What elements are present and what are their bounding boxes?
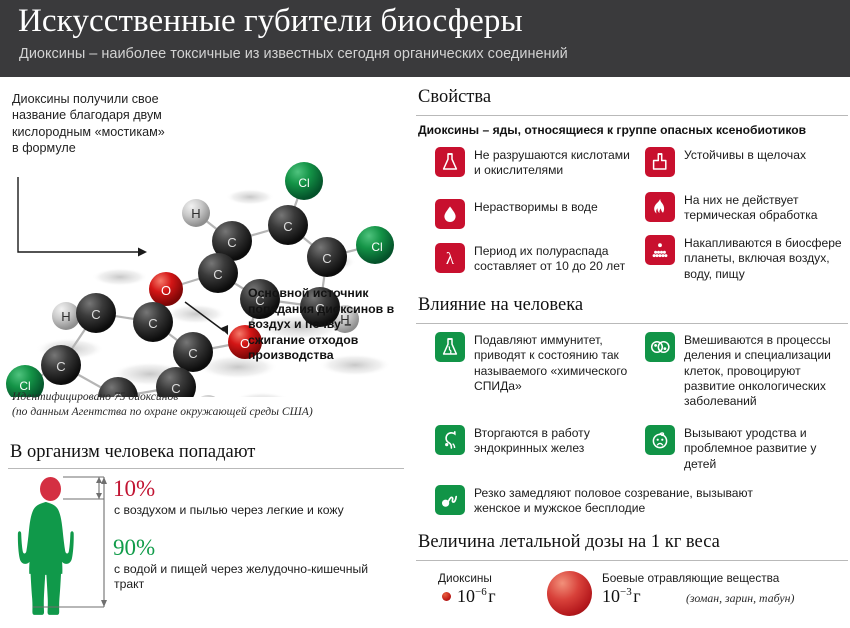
svg-text:H: H — [61, 309, 70, 324]
lethal-dose-heading: Величина летальной дозы на 1 кг веса — [418, 532, 720, 553]
impact-item-endocrine: Вторгаются в работу эндокринных желез — [435, 425, 635, 457]
property-text: Период их полураспада составляет от 10 д… — [474, 243, 640, 275]
svg-text:Cl: Cl — [298, 176, 309, 190]
svg-text:C: C — [227, 235, 236, 250]
body-section-heading: В организм человека попадают — [10, 442, 255, 463]
properties-divider — [416, 115, 848, 116]
intake-pct-90-desc: с водой и пищей через желудочно-кишечный… — [114, 562, 374, 592]
page-header: Искусственные губители биосферы Диоксины… — [0, 0, 850, 77]
atom-H: H — [182, 199, 210, 227]
atom-Cl: Cl — [285, 162, 323, 200]
cell-division-icon — [645, 332, 675, 362]
intake-pct-90: 90% — [113, 535, 155, 561]
svg-text:λ: λ — [446, 249, 455, 268]
measurement-arrowheads — [96, 477, 107, 607]
molecule-callout-oxygen-bridges: Диоксины получили свое название благодар… — [12, 91, 172, 157]
dioxin-dose-label: Диоксины — [438, 571, 492, 585]
thyroid-head-icon — [435, 425, 465, 455]
atom-C: C — [76, 293, 116, 333]
atom-Cl: Cl — [356, 226, 394, 264]
properties-heading: Свойства — [418, 87, 491, 108]
human-body-intake-figure: 10% с воздухом и пылью через легкие и ко… — [0, 473, 410, 623]
sad-baby-face-icon — [645, 425, 675, 455]
left-column: H Cl Cl H C C C C C C O O H C C Cl C H C… — [0, 77, 410, 624]
property-text: Накапливаются в биосфере планеты, включа… — [684, 235, 850, 282]
body-svg — [0, 473, 410, 623]
property-item-biosphere: Накапливаются в биосфере планеты, включа… — [645, 235, 850, 282]
atom-H: H — [52, 302, 80, 330]
atom-C: C — [41, 345, 81, 385]
warfare-agent-dose-value: 10−3 г — [602, 586, 641, 607]
page-subtitle: Диоксины – наиболее токсичные из известн… — [19, 46, 568, 62]
property-text: Устойчивы в щелочах — [684, 147, 806, 163]
property-item-water: Нерастворимы в воде — [435, 199, 635, 229]
impact-text: Подавляют иммунитет, приводят к состояни… — [474, 332, 635, 394]
lethal-dose-legend: Диоксины 10−6 г Боевые отравляющие вещес… — [414, 567, 850, 627]
impact-text: Вызывают уродства и проблемное развитие … — [684, 425, 845, 472]
lethal-dose-divider — [416, 560, 848, 561]
warfare-dose-base: 10 — [602, 586, 620, 606]
properties-lead-text: Диоксины – яды, относящиеся к группе опа… — [418, 123, 848, 137]
dioxin-dose-marker — [442, 592, 451, 601]
impact-item-fertility: Резко замедляют половое созревание, вызы… — [435, 485, 755, 517]
atom-C: C — [173, 332, 213, 372]
property-item-alkali: Устойчивы в щелочах — [645, 147, 845, 177]
body-section-divider — [8, 468, 404, 469]
impact-text: Вмешиваются в процессы деления и специал… — [684, 332, 850, 409]
dioxin-dose-base: 10 — [457, 586, 475, 606]
intake-pct-10-desc: с воздухом и пылью через легкие и кожу — [114, 503, 394, 518]
svg-text:C: C — [148, 316, 157, 331]
property-text: Нерастворимы в воде — [474, 199, 598, 215]
impact-item-cell-division: Вмешиваются в процессы деления и специал… — [645, 332, 850, 409]
impact-item-children: Вызывают уродства и проблемное развитие … — [645, 425, 845, 472]
atom-C: C — [307, 237, 347, 277]
svg-text:C: C — [322, 251, 331, 266]
property-item-halflife: λ Период их полураспада составляет от 10… — [435, 243, 640, 275]
flame-icon — [645, 192, 675, 222]
warfare-dose-unit: г — [633, 586, 640, 606]
sperm-icon — [435, 485, 465, 515]
impact-divider — [416, 323, 848, 324]
page-title: Искусственные губители биосферы — [18, 3, 523, 40]
identified-dioxins-note: Идентифицировано 75 диоксинов (по данным… — [12, 390, 342, 419]
impact-text: Резко замедляют половое созревание, вызы… — [474, 485, 755, 517]
atom-O: O — [149, 272, 183, 306]
beaker-icon — [645, 147, 675, 177]
impact-text: Вторгаются в работу эндокринных желез — [474, 425, 635, 457]
atom-C: C — [133, 302, 173, 342]
svg-text:C: C — [213, 267, 222, 282]
impact-item-immunity: Подавляют иммунитет, приводят к состояни… — [435, 332, 635, 394]
molecule-callout-main-source: Основной источник попадания диоксинов в … — [248, 286, 398, 364]
flask-dna-icon — [435, 332, 465, 362]
dioxin-dose-value: 10−6 г — [457, 586, 496, 607]
lambda-icon: λ — [435, 243, 465, 273]
warfare-agent-dose-label: Боевые отравляющие вещества — [602, 571, 779, 585]
property-text: На них не действует термическая обработк… — [684, 192, 845, 224]
svg-text:O: O — [161, 283, 171, 298]
svg-text:C: C — [188, 346, 197, 361]
water-drop-icon — [435, 199, 465, 229]
property-item-heat: На них не действует термическая обработк… — [645, 192, 845, 224]
svg-text:C: C — [56, 359, 65, 374]
human-silhouette — [18, 477, 74, 615]
svg-text:Cl: Cl — [371, 240, 382, 254]
intake-pct-10: 10% — [113, 476, 155, 502]
property-item-acids: Не разрушаются кислотами и окислителями — [435, 147, 635, 179]
flask-icon — [435, 147, 465, 177]
property-text: Не разрушаются кислотами и окислителями — [474, 147, 635, 179]
impact-heading: Влияние на человека — [418, 295, 583, 316]
right-column: Свойства Диоксины – яды, относящиеся к г… — [414, 77, 850, 624]
svg-text:H: H — [191, 206, 200, 221]
dioxin-dose-exp: −6 — [475, 586, 487, 598]
dioxin-dose-unit: г — [488, 586, 495, 606]
svg-text:C: C — [283, 219, 292, 234]
svg-text:C: C — [91, 307, 100, 322]
dot-pyramid-icon — [645, 235, 675, 265]
atom-C: C — [198, 253, 238, 293]
warfare-dose-exp: −3 — [620, 586, 632, 598]
warfare-agent-dose-marker — [547, 571, 592, 616]
atom-C: C — [268, 205, 308, 245]
warfare-agent-dose-note: (зоман, зарин, табун) — [686, 591, 794, 606]
